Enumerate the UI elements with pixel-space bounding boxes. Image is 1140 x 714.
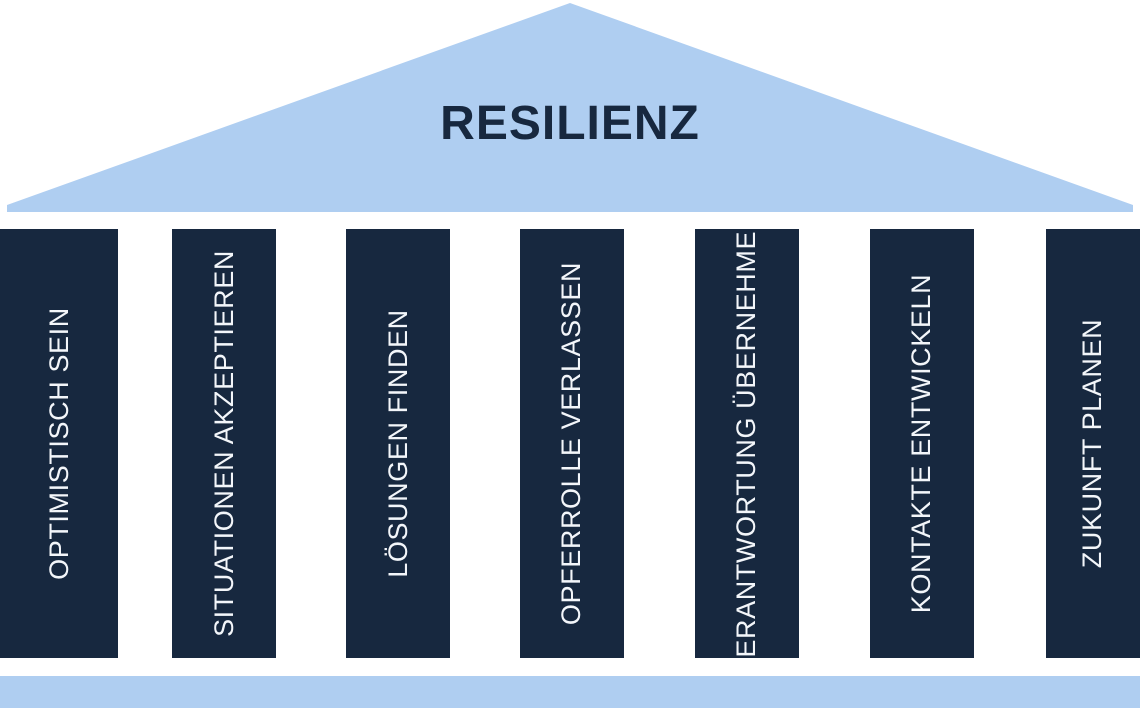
resilience-temple-diagram: RESILIENZ OPTIMISTISCH SEIN SITUATIONEN … (0, 0, 1140, 714)
pillar-label: OPTIMISTISCH SEIN (46, 307, 73, 580)
base-platform (0, 676, 1140, 708)
pillar-label: VERANTWORTUNG ÜBERNEHMEN (734, 229, 761, 658)
pillar-opferrolle-verlassen[interactable]: OPFERROLLE VERLASSEN (520, 229, 624, 658)
pillar-label: LÖSUNGEN FINDEN (385, 309, 412, 578)
pillar-situationen-akzeptieren[interactable]: SITUATIONEN AKZEPTIEREN (172, 229, 276, 658)
pillar-label: SITUATIONEN AKZEPTIEREN (211, 250, 238, 637)
pillar-group: OPTIMISTISCH SEIN SITUATIONEN AKZEPTIERE… (0, 229, 1140, 658)
pillar-label: KONTAKTE ENTWICKELN (909, 274, 936, 613)
pillar-verantwortung-uebernehmen[interactable]: VERANTWORTUNG ÜBERNEHMEN (695, 229, 799, 658)
page-title: RESILIENZ (0, 100, 1140, 148)
pillar-loesungen-finden[interactable]: LÖSUNGEN FINDEN (346, 229, 450, 658)
pillar-zukunft-planen[interactable]: ZUKUNFT PLANEN (1046, 229, 1140, 658)
pediment-roof: RESILIENZ (0, 0, 1140, 212)
pillar-label: ZUKUNFT PLANEN (1080, 319, 1107, 568)
pillar-kontakte-entwickeln[interactable]: KONTAKTE ENTWICKELN (870, 229, 974, 658)
pillar-label: OPFERROLLE VERLASSEN (559, 262, 586, 625)
pillar-optimistisch-sein[interactable]: OPTIMISTISCH SEIN (0, 229, 118, 658)
